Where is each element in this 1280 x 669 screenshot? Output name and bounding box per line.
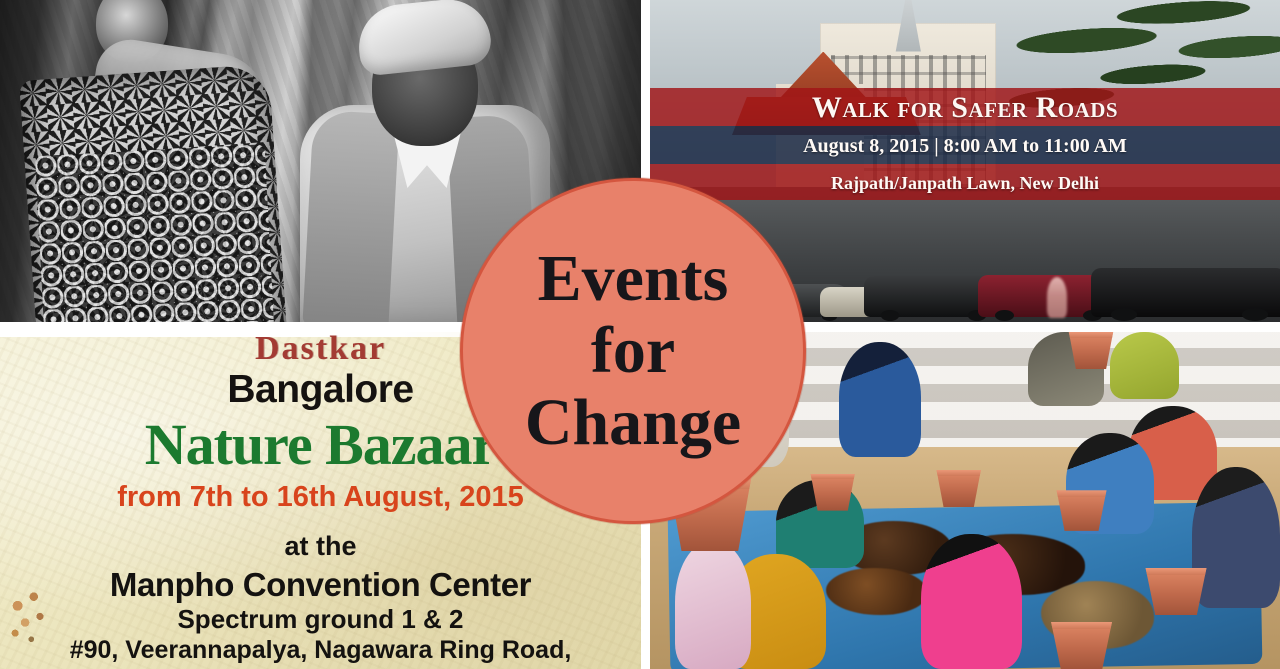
badge-line-1: Events (538, 246, 729, 312)
pedestrian (1047, 277, 1067, 318)
participant-right-side (1192, 467, 1280, 609)
events-for-change-collage: Walk for Safer Roads August 8, 2015 | 8:… (0, 0, 1280, 669)
artisan-right-vest-left (302, 110, 399, 322)
poster-venue-ground: Spectrum ground 1 & 2 (0, 604, 641, 635)
block-printed-cloth-detail (35, 144, 275, 322)
participant-blue-shirt (839, 342, 921, 457)
poster-address-line-1: #90, Veerannapalya, Nagawara Ring Road, (0, 635, 641, 665)
events-for-change-badge[interactable]: Events for Change (460, 178, 806, 524)
soil-pile-3 (826, 568, 927, 615)
walk-title: Walk for Safer Roads (650, 89, 1280, 127)
poster-venue-name: Manpho Convention Center (0, 566, 641, 604)
badge-line-2: for (591, 318, 675, 384)
car-black-sedan (1091, 268, 1280, 317)
badge-line-3: Change (525, 390, 741, 456)
poster-address-line-2: Opp. BEL Corporate office, Bangalore (0, 664, 641, 669)
participant-pink-floral (675, 541, 751, 669)
participant-standing-3 (1110, 332, 1179, 399)
walk-venue: Rajpath/Janpath Lawn, New Delhi (650, 166, 1280, 200)
poster-at-the-label: at the (0, 530, 641, 562)
walk-datetime: August 8, 2015 | 8:00 AM to 11:00 AM (650, 128, 1280, 164)
participant-pink-top (921, 534, 1022, 669)
